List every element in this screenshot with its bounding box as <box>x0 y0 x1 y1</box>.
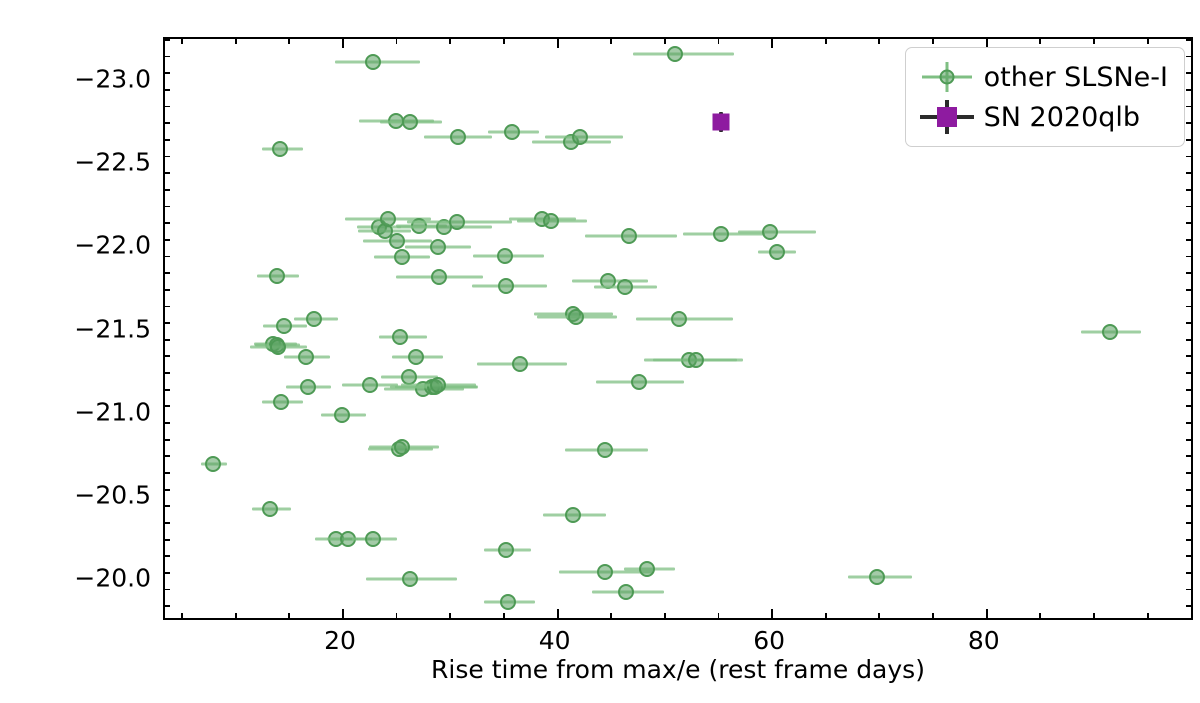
y-tick-label: −20.0 <box>74 564 151 593</box>
data-point-other-slsne <box>334 407 350 423</box>
data-point-other-slsne <box>401 369 417 385</box>
data-point-other-slsne <box>430 239 446 255</box>
data-point-other-slsne <box>402 571 418 587</box>
data-point-other-slsne <box>273 394 289 410</box>
data-point-other-slsne <box>568 309 584 325</box>
data-point-other-slsne <box>621 228 637 244</box>
data-point-sn2020qlb <box>712 114 729 131</box>
data-point-other-slsne <box>504 124 520 140</box>
data-point-other-slsne <box>500 594 516 610</box>
data-point-other-slsne <box>688 352 704 368</box>
data-point-other-slsne <box>270 339 286 355</box>
data-point-other-slsne <box>565 507 581 523</box>
plot-area: other SLSNe-I SN 2020qlb <box>163 37 1193 620</box>
data-point-other-slsne <box>572 129 588 145</box>
y-tick-label: −20.5 <box>74 481 151 510</box>
data-point-other-slsne <box>402 114 418 130</box>
x-tick-label: 60 <box>753 626 785 655</box>
data-point-other-slsne <box>380 211 396 227</box>
legend-label-sn2020qlb: SN 2020qlb <box>978 102 1140 133</box>
data-point-other-slsne <box>262 501 278 517</box>
data-point-other-slsne <box>298 349 314 365</box>
data-point-other-slsne <box>272 141 288 157</box>
data-point-other-slsne <box>365 531 381 547</box>
legend-item-other-slsne[interactable]: other SLSNe-I <box>916 57 1168 97</box>
y-tick-label: −22.0 <box>74 231 151 260</box>
data-point-other-slsne <box>639 561 655 577</box>
data-point-other-slsne <box>389 233 405 249</box>
y-tick-label: −22.5 <box>74 147 151 176</box>
data-point-other-slsne <box>671 311 687 327</box>
data-point-other-slsne <box>362 377 378 393</box>
legend[interactable]: other SLSNe-I SN 2020qlb <box>905 47 1185 147</box>
data-point-other-slsne <box>300 379 316 395</box>
data-point-other-slsne <box>430 377 446 393</box>
data-point-other-slsne <box>449 214 465 230</box>
legend-marker-circle-icon <box>916 58 978 96</box>
x-axis-label: Rise time from max/e (rest frame days) <box>163 655 1193 684</box>
data-point-other-slsne <box>394 249 410 265</box>
figure: Peak absolute magnitude (ZTF g-band) Ris… <box>0 0 1200 703</box>
data-point-other-slsne <box>667 46 683 62</box>
data-point-other-slsne <box>431 269 447 285</box>
legend-label-other-slsne: other SLSNe-I <box>978 62 1168 93</box>
y-tick-label: −23.0 <box>74 64 151 93</box>
data-point-other-slsne <box>512 356 528 372</box>
data-point-other-slsne <box>276 318 292 334</box>
data-point-other-slsne <box>497 248 513 264</box>
data-point-other-slsne <box>543 213 559 229</box>
data-point-other-slsne <box>205 456 221 472</box>
legend-marker-square-icon <box>916 98 978 136</box>
data-point-other-slsne <box>617 279 633 295</box>
legend-item-sn2020qlb[interactable]: SN 2020qlb <box>916 97 1168 137</box>
data-point-other-slsne <box>450 129 466 145</box>
error-bar-horizontal <box>633 52 734 55</box>
y-tick-label: −21.5 <box>74 314 151 343</box>
data-point-other-slsne <box>269 268 285 284</box>
data-point-other-slsne <box>498 278 514 294</box>
data-point-other-slsne <box>618 584 634 600</box>
data-point-other-slsne <box>631 374 647 390</box>
x-tick-label: 20 <box>324 626 356 655</box>
data-point-other-slsne <box>498 542 514 558</box>
data-point-other-slsne <box>1102 324 1118 340</box>
x-tick-label: 40 <box>539 626 571 655</box>
data-point-other-slsne <box>365 54 381 70</box>
data-point-other-slsne <box>306 311 322 327</box>
data-point-other-slsne <box>869 569 885 585</box>
data-point-other-slsne <box>769 244 785 260</box>
y-tick-label: −21.0 <box>74 397 151 426</box>
data-point-other-slsne <box>713 226 729 242</box>
y-axis-label-container: Peak absolute magnitude (ZTF g-band) <box>0 0 44 703</box>
data-point-other-slsne <box>762 224 778 240</box>
data-point-other-slsne <box>597 442 613 458</box>
data-point-other-slsne <box>392 329 408 345</box>
data-point-other-slsne <box>597 564 613 580</box>
data-point-other-slsne <box>394 439 410 455</box>
data-point-other-slsne <box>408 349 424 365</box>
x-tick-label: 80 <box>968 626 1000 655</box>
